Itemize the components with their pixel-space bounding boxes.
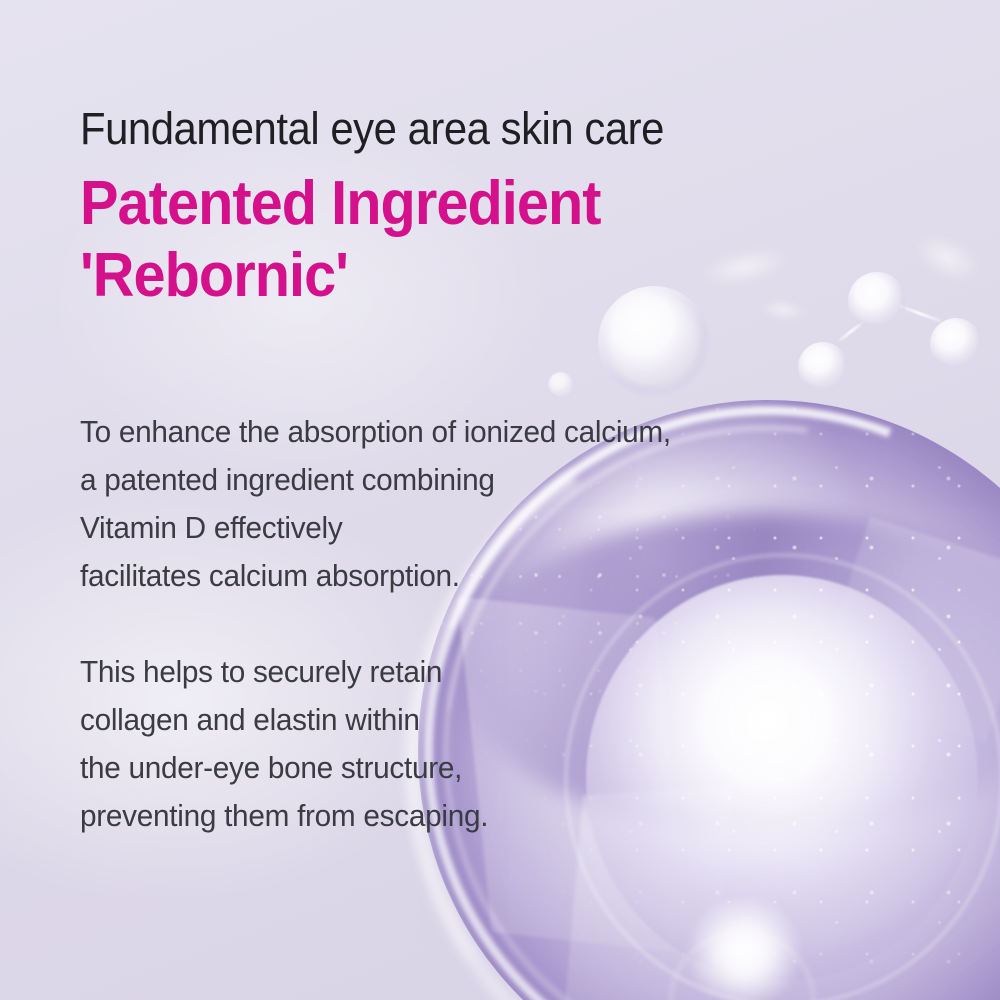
headline-line-1: Patented Ingredient	[80, 168, 601, 240]
headline-line-2: 'Rebornic'	[80, 240, 601, 312]
page-title: Patented Ingredient 'Rebornic'	[80, 168, 601, 312]
paragraph-one-line: a patented ingredient combining	[80, 456, 671, 504]
molecular-chain-bubble-1	[848, 272, 906, 330]
paragraph-two-line: collagen and elastin within	[80, 696, 671, 744]
eyebrow-text: Fundamental eye area skin care	[80, 106, 664, 151]
paragraph-two-line: the under-eye bone structure,	[80, 744, 671, 792]
water-droplet-bubble-large	[598, 286, 710, 398]
paragraph-two: This helps to securely retain collagen a…	[80, 648, 696, 840]
water-droplet-bubble-small	[548, 372, 574, 398]
paragraph-one: To enhance the absorption of ionized cal…	[80, 408, 696, 600]
paragraph-one-line: facilitates calcium absorption.	[80, 552, 671, 600]
marketing-banner: Fundamental eye area skin care Patented …	[0, 0, 1000, 1000]
paragraph-two-line: This helps to securely retain	[80, 648, 671, 696]
paragraph-two-line: preventing them from escaping.	[80, 792, 671, 840]
paragraph-one-line: To enhance the absorption of ionized cal…	[80, 408, 671, 456]
paragraph-one-line: Vitamin D effectively	[80, 504, 671, 552]
body-copy: To enhance the absorption of ionized cal…	[80, 408, 696, 840]
molecular-chain-bubble-3	[930, 318, 982, 370]
molecular-chain-bubble-2	[798, 342, 848, 392]
